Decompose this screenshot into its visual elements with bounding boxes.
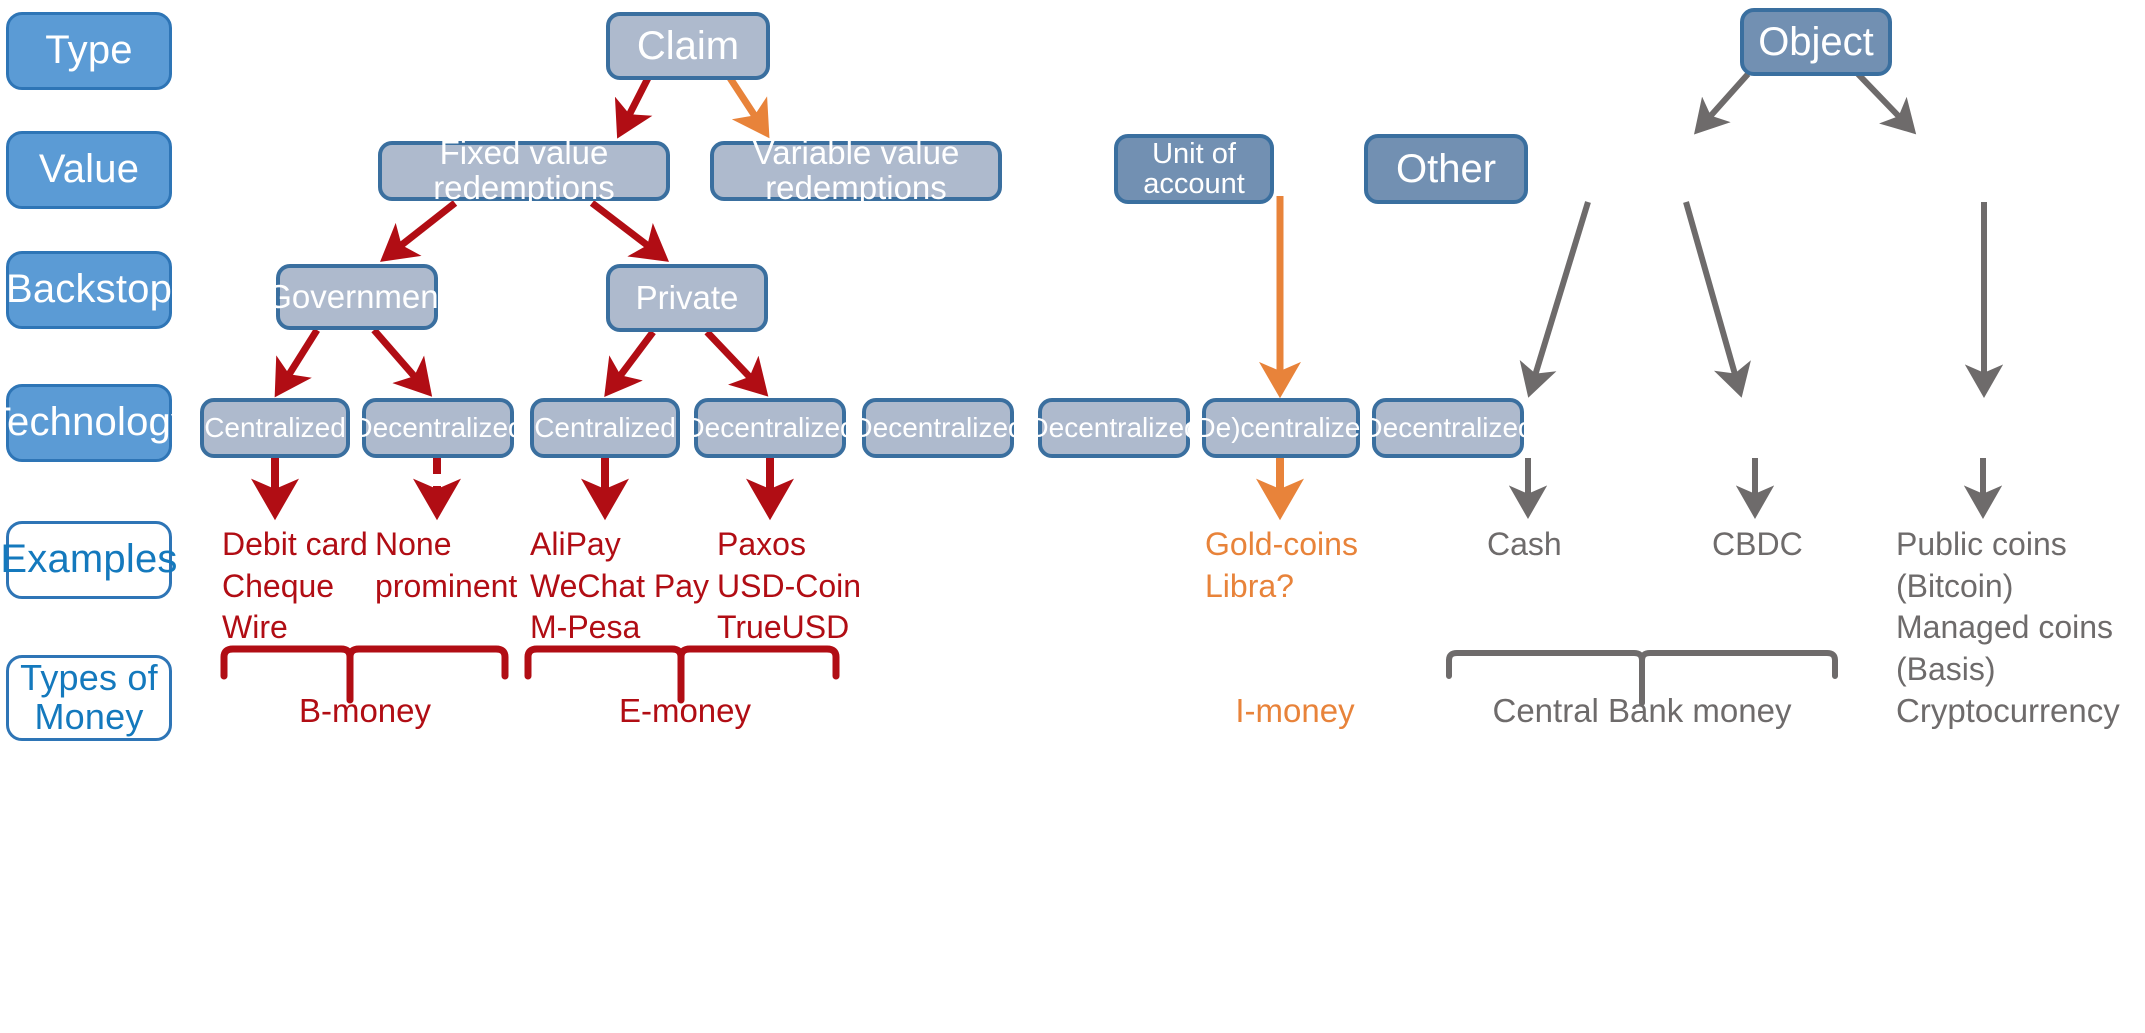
connector-arrow-layer <box>0 0 2145 1033</box>
node-tech-variable-decentralized[interactable]: Decentralized <box>862 398 1014 458</box>
row-label-technology: Technology <box>6 384 172 462</box>
examples-e-centralized: AliPay WeChat Pay M-Pesa <box>530 524 730 649</box>
node-private[interactable]: Private <box>606 264 768 332</box>
summary-cryptocurrency: Cryptocurrency <box>1896 690 2145 733</box>
node-tech-gov-centralized[interactable]: Centralized <box>200 398 350 458</box>
arrow-fixed-to-government <box>385 203 455 258</box>
money-taxonomy-diagram: Type Value Backstop Technology Examples … <box>0 0 2145 1033</box>
node-claim[interactable]: Claim <box>606 12 770 80</box>
arrow-object-to-other <box>1858 74 1912 130</box>
arrow-object-to-unit-of-account <box>1698 74 1748 130</box>
arrow-uoa-to-de-centralized <box>1686 202 1740 392</box>
summary-central-bank-money: Central Bank money <box>1482 690 1802 733</box>
examples-cash: Cash <box>1487 524 1627 566</box>
node-object[interactable]: Object <box>1740 8 1892 76</box>
node-unit-of-account[interactable]: Unit of account <box>1114 134 1274 204</box>
row-label-backstop: Backstop <box>6 251 172 329</box>
node-other[interactable]: Other <box>1364 134 1528 204</box>
row-label-type: Type <box>6 12 172 90</box>
arrow-government-to-centralized <box>278 330 317 392</box>
examples-cryptocurrency: Public coins (Bitcoin) Managed coins (Ba… <box>1896 524 2145 690</box>
arrow-government-to-decentralized <box>374 330 428 392</box>
examples-i-money: Gold-coins Libra? <box>1205 524 1405 607</box>
node-tech-priv-centralized[interactable]: Centralized <box>530 398 680 458</box>
node-government[interactable]: Government <box>276 264 438 330</box>
arrow-private-to-decentralized <box>707 332 764 392</box>
node-tech-other-decentralized[interactable]: Decentralized <box>1372 398 1524 458</box>
arrow-uoa-to-decentralized <box>1530 202 1588 392</box>
node-tech-uoa-de-centralized[interactable]: (De)centralized <box>1202 398 1360 458</box>
arrow-claim-to-variable <box>730 78 766 133</box>
arrow-claim-to-fixed <box>620 78 648 133</box>
node-variable-value-redemptions[interactable]: Variable value redemptions <box>710 141 1002 201</box>
summary-e-money: E-money <box>585 690 785 733</box>
arrow-fixed-to-private <box>592 203 664 258</box>
node-tech-uoa-decentralized[interactable]: Decentralized <box>1038 398 1190 458</box>
node-tech-gov-decentralized[interactable]: Decentralized <box>362 398 514 458</box>
examples-b-decentralized: None prominent <box>375 524 555 607</box>
summary-b-money: B-money <box>265 690 465 733</box>
node-fixed-value-redemptions[interactable]: Fixed value redemptions <box>378 141 670 201</box>
summary-i-money: I-money <box>1195 690 1395 733</box>
examples-e-decentralized: Paxos USD-Coin TrueUSD <box>717 524 917 649</box>
arrow-private-to-centralized <box>608 332 653 392</box>
row-label-value: Value <box>6 131 172 209</box>
node-tech-priv-decentralized[interactable]: Decentralized <box>694 398 846 458</box>
row-label-examples: Examples <box>6 521 172 599</box>
examples-cbdc: CBDC <box>1712 524 1852 566</box>
row-label-types-of-money: Types of Money <box>6 655 172 741</box>
